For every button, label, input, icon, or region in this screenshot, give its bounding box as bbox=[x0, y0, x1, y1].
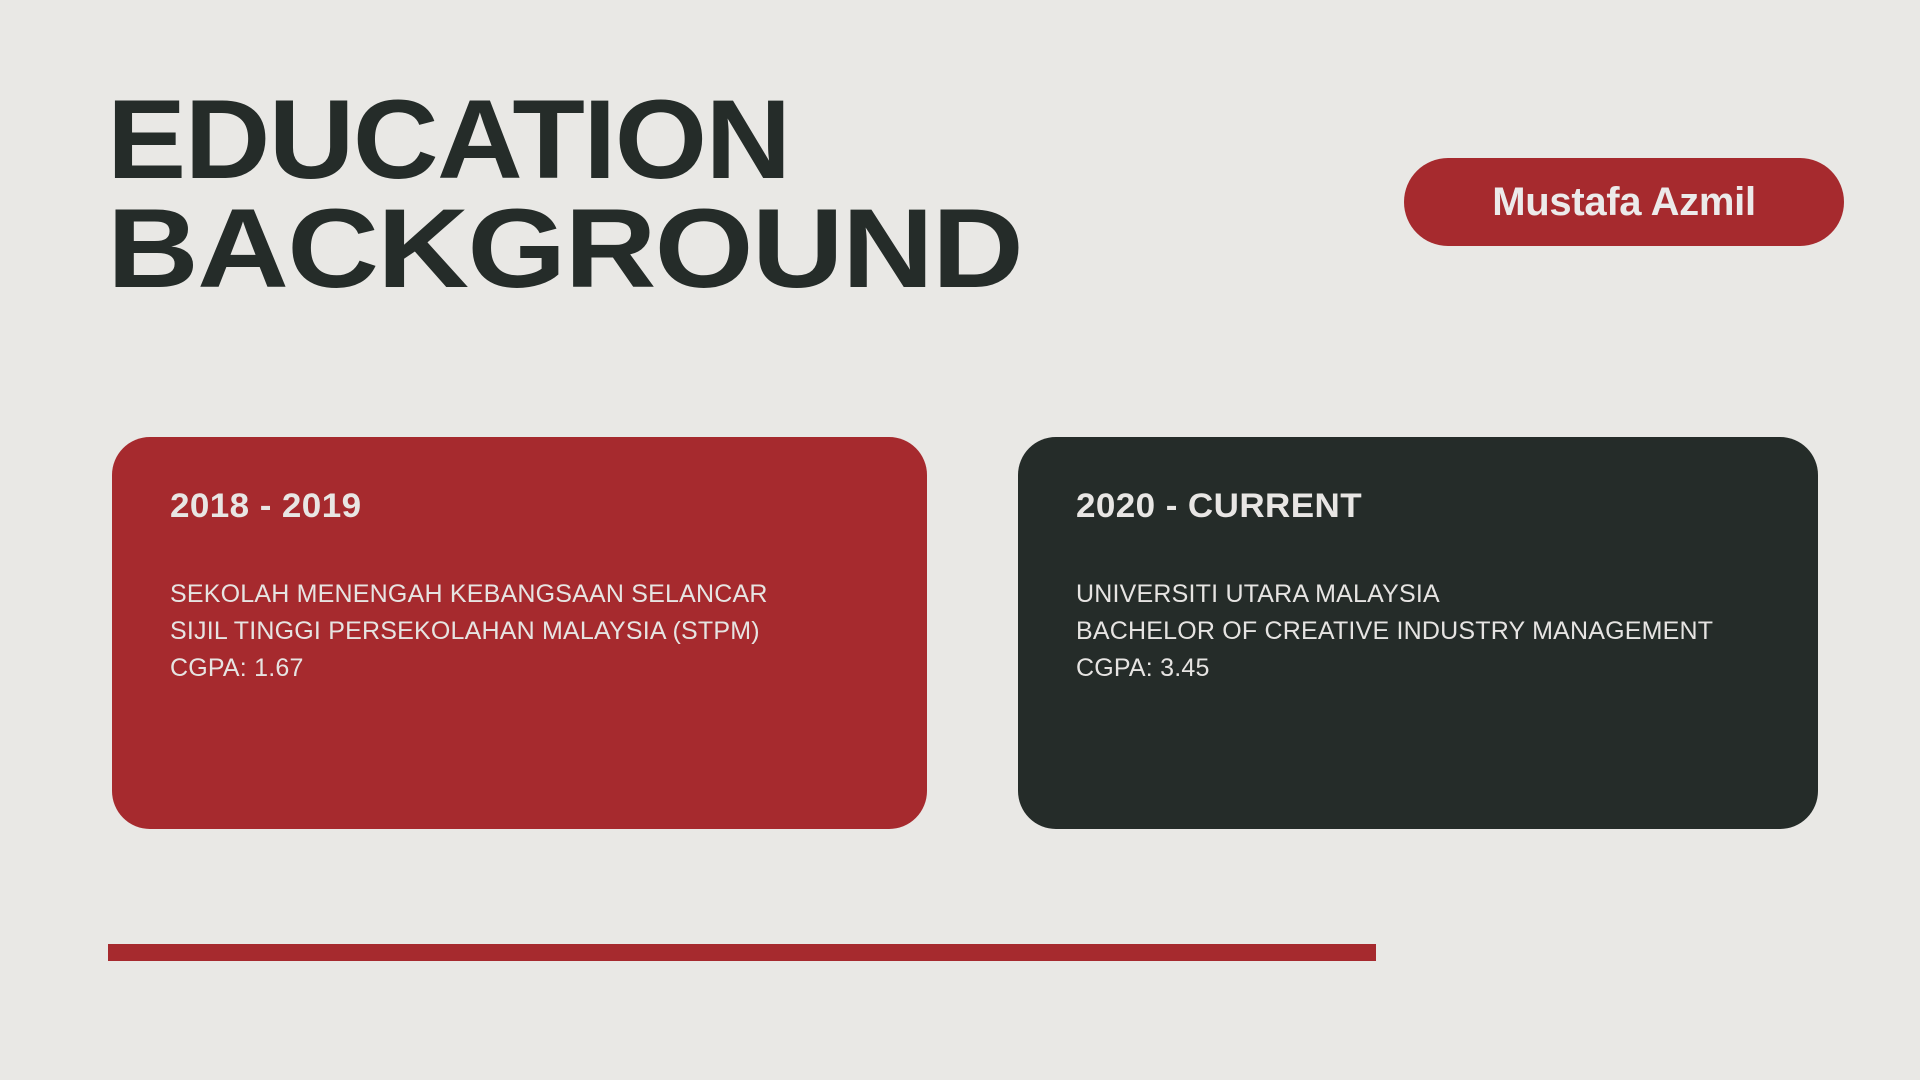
education-card-period: 2020 - CURRENT bbox=[1076, 487, 1781, 526]
education-card-institution: SEKOLAH MENENGAH KEBANGSAAN SELANCAR bbox=[170, 576, 869, 613]
name-badge-label: Mustafa Azmil bbox=[1492, 180, 1756, 225]
page-title-line-1: EDUCATION bbox=[107, 86, 1358, 195]
education-card-qualification: BACHELOR OF CREATIVE INDUSTRY MANAGEMENT bbox=[1076, 613, 1760, 650]
page-title: EDUCATION BACKGROUND bbox=[107, 86, 1287, 303]
education-card-qualification: SIJIL TINGGI PERSEKOLAHAN MALAYSIA (STPM… bbox=[170, 613, 869, 650]
education-card-details: UNIVERSITI UTARA MALAYSIA BACHELOR OF CR… bbox=[1076, 576, 1760, 687]
bottom-divider-rule bbox=[108, 944, 1376, 961]
education-card-period: 2018 - 2019 bbox=[170, 487, 890, 526]
slide-canvas: EDUCATION BACKGROUND Mustafa Azmil 2018 … bbox=[0, 0, 1920, 1080]
name-badge: Mustafa Azmil bbox=[1404, 158, 1844, 246]
education-card-cgpa: CGPA: 3.45 bbox=[1076, 650, 1760, 687]
education-cards: 2018 - 2019 SEKOLAH MENENGAH KEBANGSAAN … bbox=[112, 437, 1818, 829]
education-card-cgpa: CGPA: 1.67 bbox=[170, 650, 869, 687]
education-card-details: SEKOLAH MENENGAH KEBANGSAAN SELANCAR SIJ… bbox=[170, 576, 869, 687]
education-card-university: 2020 - CURRENT UNIVERSITI UTARA MALAYSIA… bbox=[1018, 437, 1818, 829]
page-title-line-2: BACKGROUND bbox=[107, 195, 1446, 304]
education-card-institution: UNIVERSITI UTARA MALAYSIA bbox=[1076, 576, 1760, 613]
education-card-secondary: 2018 - 2019 SEKOLAH MENENGAH KEBANGSAAN … bbox=[112, 437, 927, 829]
